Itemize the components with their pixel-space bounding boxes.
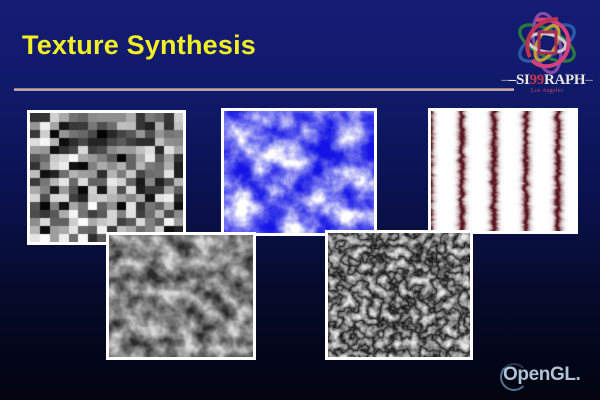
siggraph-subtitle: Los Angeles (498, 88, 596, 94)
texture-canvas (109, 235, 253, 357)
opengl-logo: OpenGL. (503, 362, 595, 392)
siggraph-prefix: –SI (509, 72, 530, 88)
title-divider-rule (14, 88, 514, 91)
texture-tile-wood-grain (428, 108, 578, 234)
siggraph-rings-icon (506, 12, 588, 74)
presentation-slide: Texture Synthesis ––SI99RAPH– Los Angele… (0, 0, 600, 400)
siggraph-dash-left: – (502, 72, 509, 88)
texture-tile-smooth-noise (106, 232, 256, 360)
page-title: Texture Synthesis (22, 30, 256, 61)
texture-tile-turbulence-marble (325, 230, 473, 360)
siggraph-year: 99 (530, 72, 544, 88)
opengl-wordmark: OpenGL. (503, 364, 595, 386)
texture-canvas (30, 113, 183, 242)
siggraph-dash-right: – (585, 72, 592, 88)
texture-tile-block-noise (27, 110, 186, 245)
texture-tile-perlin-clouds (221, 108, 377, 236)
siggraph-logo: ––SI99RAPH– Los Angeles (498, 12, 596, 102)
texture-canvas (328, 233, 470, 357)
siggraph-suffix: RAPH (544, 72, 585, 88)
texture-canvas (224, 111, 374, 233)
siggraph-wordmark: ––SI99RAPH– (498, 72, 596, 89)
texture-canvas (431, 111, 575, 231)
